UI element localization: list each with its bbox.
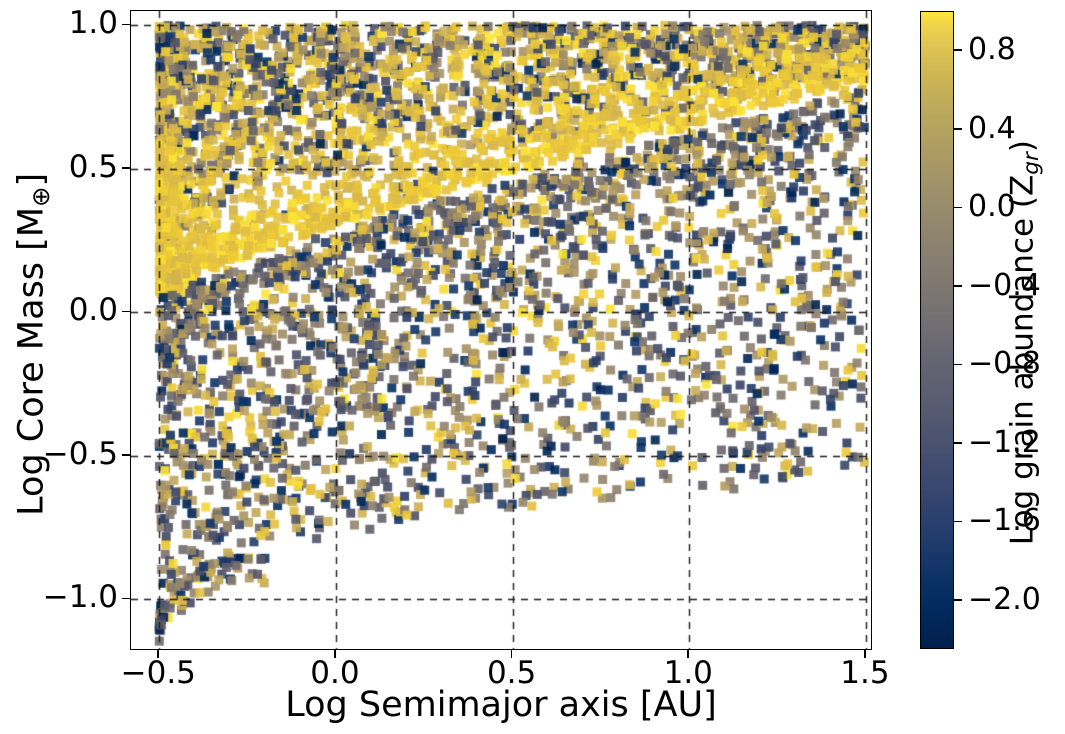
y-tick-mark	[122, 598, 130, 600]
colorbar-tick-mark	[954, 285, 962, 287]
y-tick-mark	[122, 24, 130, 26]
colorbar-tick-mark	[954, 364, 962, 366]
x-axis-title: Log Semimajor axis [AU]	[130, 688, 872, 723]
colorbar-tick-mark	[954, 207, 962, 209]
colorbar: 0.80.40.0−0.4−0.8−1.2−1.6−2.0	[920, 11, 954, 649]
colorbar-tick-mark	[954, 128, 962, 130]
colorbar-tick-mark	[954, 521, 962, 523]
colorbar-label-close: )	[1004, 140, 1040, 152]
plot-area	[130, 10, 872, 650]
scatter-points-layer	[131, 11, 872, 650]
y-axis-title: Log Core Mass [M⊕]	[15, 24, 54, 664]
colorbar-label-subscript: gr	[1019, 152, 1044, 175]
colorbar-tick-mark	[954, 442, 962, 444]
x-tick-label: 1.5	[805, 658, 925, 689]
colorbar-title: Log grain abundance (Zgr)	[1007, 33, 1042, 653]
colorbar-label-main: Log grain abundance (Z	[1004, 175, 1040, 545]
colorbar-tick-mark	[954, 599, 962, 601]
scatter-plot-figure: 1.00.50.0−0.5−1.0−0.50.00.51.01.5 Log Se…	[0, 0, 1065, 734]
colorbar-gradient	[920, 11, 954, 649]
earth-symbol-icon: ⊕	[26, 186, 55, 207]
x-tick-label: −0.5	[98, 658, 218, 689]
y-tick-mark	[122, 167, 130, 169]
y-tick-mark	[122, 454, 130, 456]
y-tick-mark	[122, 311, 130, 313]
colorbar-tick-mark	[954, 49, 962, 51]
